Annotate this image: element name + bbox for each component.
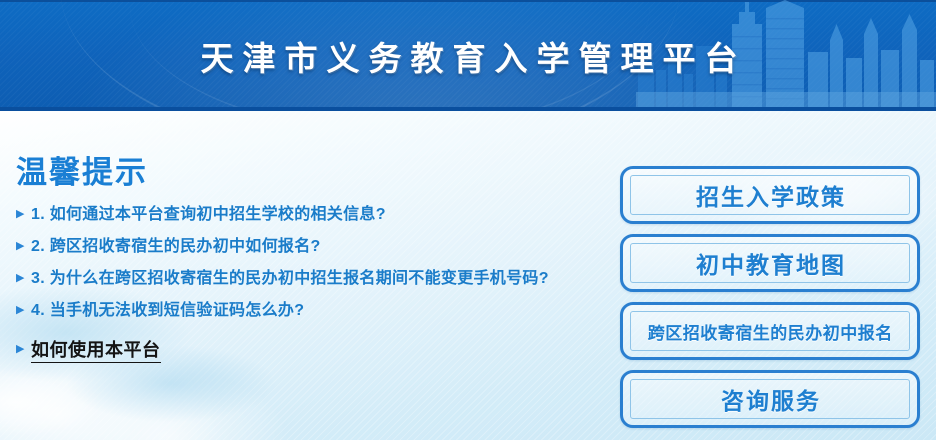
chevron-right-icon: ▶	[16, 268, 29, 289]
how-to-use-label: 如何使用本平台	[31, 339, 161, 363]
nav-button-label: 咨询服务	[631, 373, 909, 425]
nav-button-group: 招生入学政策 初中教育地图 跨区招收寄宿生的民办初中报名 咨询服务	[620, 166, 920, 438]
nav-button-education-map[interactable]: 初中教育地图	[620, 234, 920, 292]
nav-button-admission-policy[interactable]: 招生入学政策	[620, 166, 920, 224]
page-title: 天津市义务教育入学管理平台	[0, 0, 936, 111]
chevron-right-icon: ▶	[16, 204, 29, 225]
nav-button-label: 初中教育地图	[631, 237, 909, 289]
faq-item-label: 2. 跨区招收寄宿生的民办初中如何报名?	[31, 236, 321, 257]
faq-item-3[interactable]: ▶ 3. 为什么在跨区招收寄宿生的民办初中招生报名期间不能变更手机号码?	[16, 268, 596, 289]
tips-panel: 温馨提示 ▶ 1. 如何通过本平台查询初中招生学校的相关信息? ▶ 2. 跨区招…	[16, 157, 596, 363]
content-area: 温馨提示 ▶ 1. 如何通过本平台查询初中招生学校的相关信息? ▶ 2. 跨区招…	[0, 111, 936, 440]
faq-item-label: 4. 当手机无法收到短信验证码怎么办?	[31, 300, 304, 321]
chevron-right-icon: ▶	[16, 339, 29, 360]
chevron-right-icon: ▶	[16, 236, 29, 257]
faq-item-label: 1. 如何通过本平台查询初中招生学校的相关信息?	[31, 204, 386, 225]
faq-item-2[interactable]: ▶ 2. 跨区招收寄宿生的民办初中如何报名?	[16, 236, 596, 257]
nav-button-label: 招生入学政策	[631, 169, 909, 221]
faq-item-1[interactable]: ▶ 1. 如何通过本平台查询初中招生学校的相关信息?	[16, 204, 596, 225]
nav-button-consultation-service[interactable]: 咨询服务	[620, 370, 920, 428]
nav-button-boarding-enrollment[interactable]: 跨区招收寄宿生的民办初中报名	[620, 302, 920, 360]
how-to-use-link[interactable]: ▶ 如何使用本平台	[16, 339, 596, 363]
chevron-right-icon: ▶	[16, 300, 29, 321]
tips-heading: 温馨提示	[16, 157, 596, 188]
page-root: 天津市义务教育入学管理平台 温馨提示 ▶ 1. 如何通过本平台查询初中招生学校的…	[0, 0, 936, 440]
faq-item-label: 3. 为什么在跨区招收寄宿生的民办初中招生报名期间不能变更手机号码?	[31, 268, 549, 289]
site-banner: 天津市义务教育入学管理平台	[0, 0, 936, 111]
faq-item-4[interactable]: ▶ 4. 当手机无法收到短信验证码怎么办?	[16, 300, 596, 321]
nav-button-label: 跨区招收寄宿生的民办初中报名	[631, 305, 909, 357]
